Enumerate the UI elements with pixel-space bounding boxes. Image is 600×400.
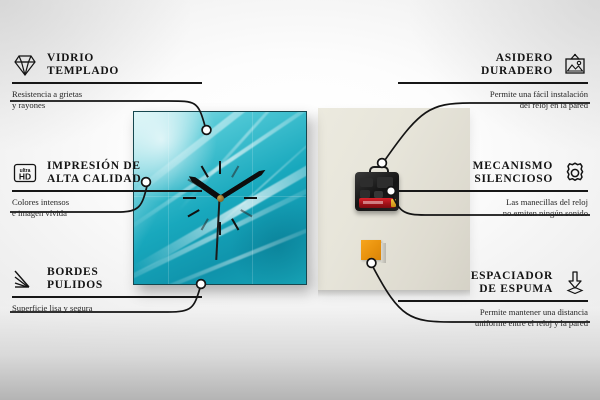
divider [398, 300, 588, 302]
gear-icon [562, 160, 588, 186]
battery [359, 198, 395, 208]
polished-edges-icon [12, 266, 38, 292]
feature-title: BORDES PULIDOS [47, 266, 103, 292]
feature-vidrio-templado: VIDRIO TEMPLADO Resistencia a grietas y … [12, 52, 202, 111]
clock-pivot [217, 195, 224, 202]
feature-bordes-pulidos: BORDES PULIDOS Superficie lisa y segura [12, 266, 202, 314]
divider [398, 190, 588, 192]
feature-description: Permite mantener una distancia uniforme … [398, 307, 588, 329]
svg-text:HD: HD [19, 172, 31, 182]
feature-espaciador-de-espuma: ESPACIADOR DE ESPUMA Permite mantener un… [398, 270, 588, 329]
feature-description: Permite una fácil instalación del reloj … [398, 89, 588, 111]
press-down-icon [562, 270, 588, 296]
feature-mecanismo-silencioso: MECANISMO SILENCIOSO Las manecillas del … [398, 160, 588, 219]
divider [12, 82, 202, 84]
feature-title: IMPRESIÓN DE ALTA CALIDAD [47, 160, 141, 186]
feature-title: VIDRIO TEMPLADO [47, 52, 119, 78]
feature-description: Resistencia a grietas y rayones [12, 89, 202, 111]
feature-asidero-duradero: ASIDERO DURADERO Permite una fácil insta… [398, 52, 588, 111]
infographic-canvas: VIDRIO TEMPLADO Resistencia a grietas y … [0, 0, 600, 400]
mecanismo-de-reloj [355, 166, 399, 211]
feature-impresion-alta-calidad: ultra HD IMPRESIÓN DE ALTA CALIDAD Color… [12, 160, 202, 219]
divider [398, 82, 588, 84]
divider [12, 190, 202, 192]
diamond-icon [12, 52, 38, 78]
feature-description: Superficie lisa y segura [12, 303, 202, 314]
feature-title: MECANISMO SILENCIOSO [473, 160, 553, 186]
mechanism-body [355, 172, 399, 211]
feature-title: ASIDERO DURADERO [481, 52, 553, 78]
feature-description: Las manecillas del reloj no emiten ningú… [398, 197, 588, 219]
espaciador-de-espuma [361, 240, 381, 260]
wall-frame-icon [562, 52, 588, 78]
feature-title: ESPACIADOR DE ESPUMA [471, 270, 553, 296]
divider [12, 296, 202, 298]
ultra-hd-icon: ultra HD [12, 160, 38, 186]
feature-description: Colores intensos e imagen vívida [12, 197, 202, 219]
